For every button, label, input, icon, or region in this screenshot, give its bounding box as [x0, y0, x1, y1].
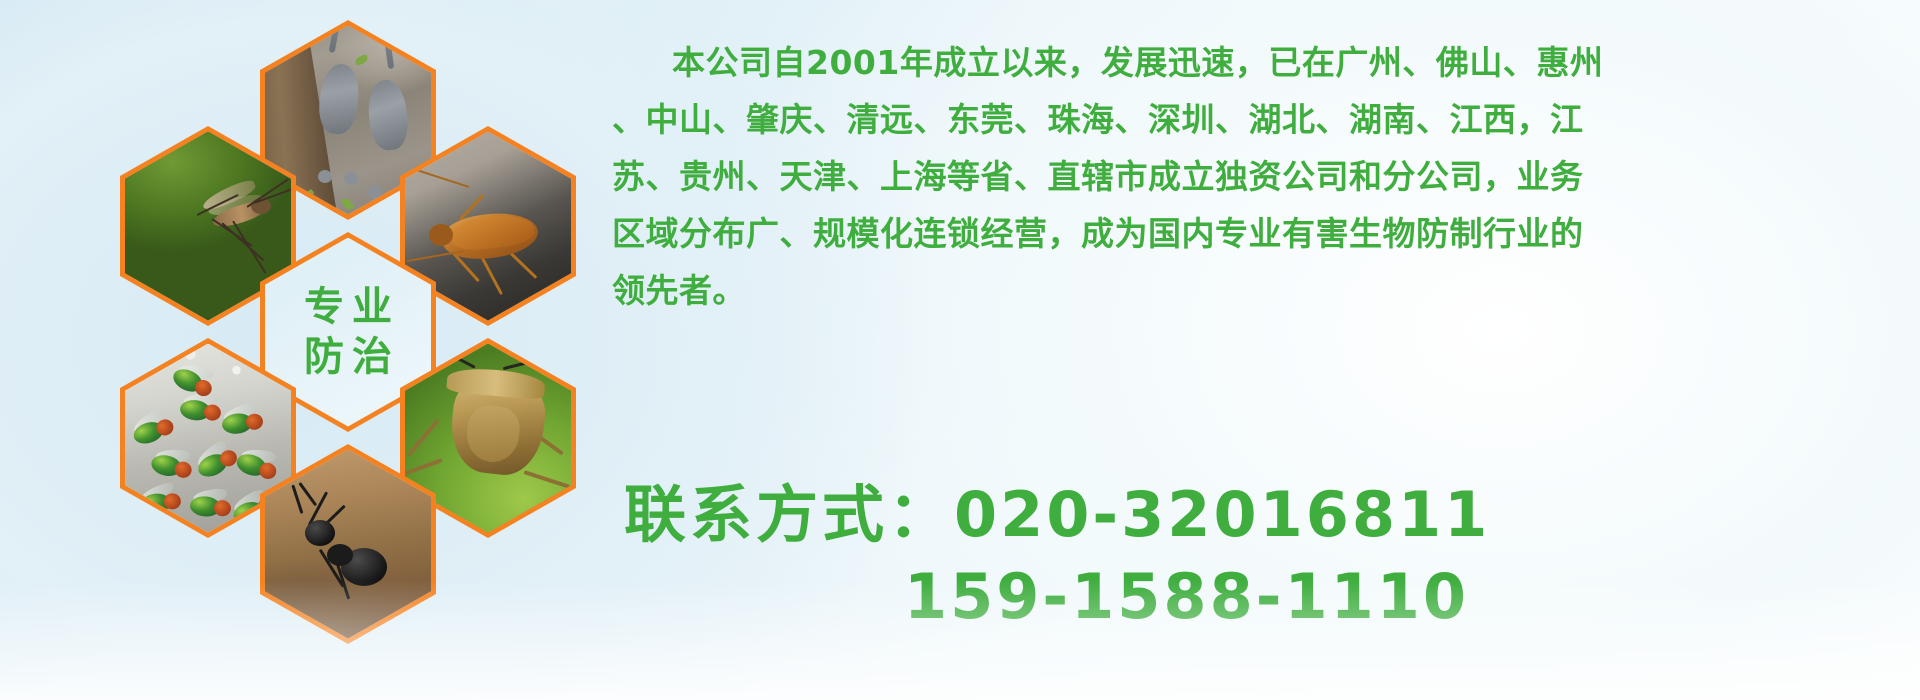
description-line-2: 、中山、肇庆、清远、东莞、珠海、深圳、湖北、湖南、江西，江 [612, 91, 1908, 148]
hexagon-photo-cluster: 专业 防治 [96, 8, 596, 568]
contact-row-secondary: 159-1588-1110 [612, 556, 1908, 638]
contact-phone-primary[interactable]: 020-32016811 [954, 478, 1490, 551]
description-line-3: 苏、贵州、天津、上海等省、直辖市成立独资公司和分公司，业务 [612, 148, 1908, 205]
contact-label: 联系方式： [624, 478, 954, 551]
description-line-5: 领先者。 [612, 262, 1908, 319]
contact-row-primary: 联系方式：020-32016811 [612, 474, 1908, 556]
ant-photo [265, 450, 431, 639]
logo-line-2: 防治 [296, 337, 400, 377]
description-line-1: 本公司自2001年成立以来，发展迅速，已在广州、佛山、惠州 [612, 34, 1908, 91]
hex-inner-ant [265, 450, 431, 639]
logo-line-1: 专业 [296, 287, 400, 327]
pest-control-banner: 专业 防治 [0, 0, 1920, 700]
description-line-4: 区域分布广、规模化连锁经营，成为国内专业有害生物防制行业的 [612, 205, 1908, 262]
company-description: 本公司自2001年成立以来，发展迅速，已在广州、佛山、惠州 、中山、肇庆、清远、… [612, 34, 1908, 319]
content-column: 本公司自2001年成立以来，发展迅速，已在广州、佛山、惠州 、中山、肇庆、清远、… [612, 0, 1920, 700]
contact-phone-secondary[interactable]: 159-1588-1110 [904, 560, 1469, 633]
contact-block: 联系方式：020-32016811 159-1588-1110 [612, 474, 1908, 638]
